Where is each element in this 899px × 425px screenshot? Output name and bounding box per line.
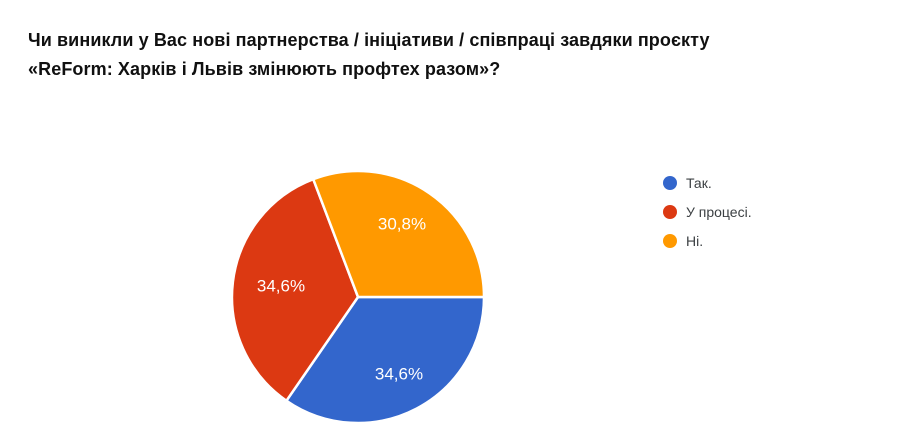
legend-item-tak[interactable]: Так. bbox=[663, 168, 873, 197]
pie-slices bbox=[232, 171, 484, 423]
chart-legend: Так. У процесі. Ні. bbox=[663, 168, 873, 255]
pie-plot-area: 34,6%34,6%30,8% bbox=[0, 0, 660, 425]
legend-item-label: Ні. bbox=[686, 233, 703, 249]
pie-slice-label: 34,6% bbox=[257, 276, 305, 295]
pie-svg: 34,6%34,6%30,8% bbox=[0, 0, 660, 425]
legend-swatch-icon bbox=[663, 205, 677, 219]
legend-item-ni[interactable]: Ні. bbox=[663, 226, 873, 255]
legend-item-label: У процесі. bbox=[686, 204, 752, 220]
pie-slice-label: 30,8% bbox=[378, 214, 426, 233]
pie-slice-label: 34,6% bbox=[375, 364, 423, 383]
legend-swatch-icon bbox=[663, 234, 677, 248]
pie-chart-container: Чи виникли у Вас нові партнерства / ініц… bbox=[0, 0, 899, 425]
legend-item-label: Так. bbox=[686, 175, 712, 191]
legend-swatch-icon bbox=[663, 176, 677, 190]
legend-item-u-protsesi[interactable]: У процесі. bbox=[663, 197, 873, 226]
